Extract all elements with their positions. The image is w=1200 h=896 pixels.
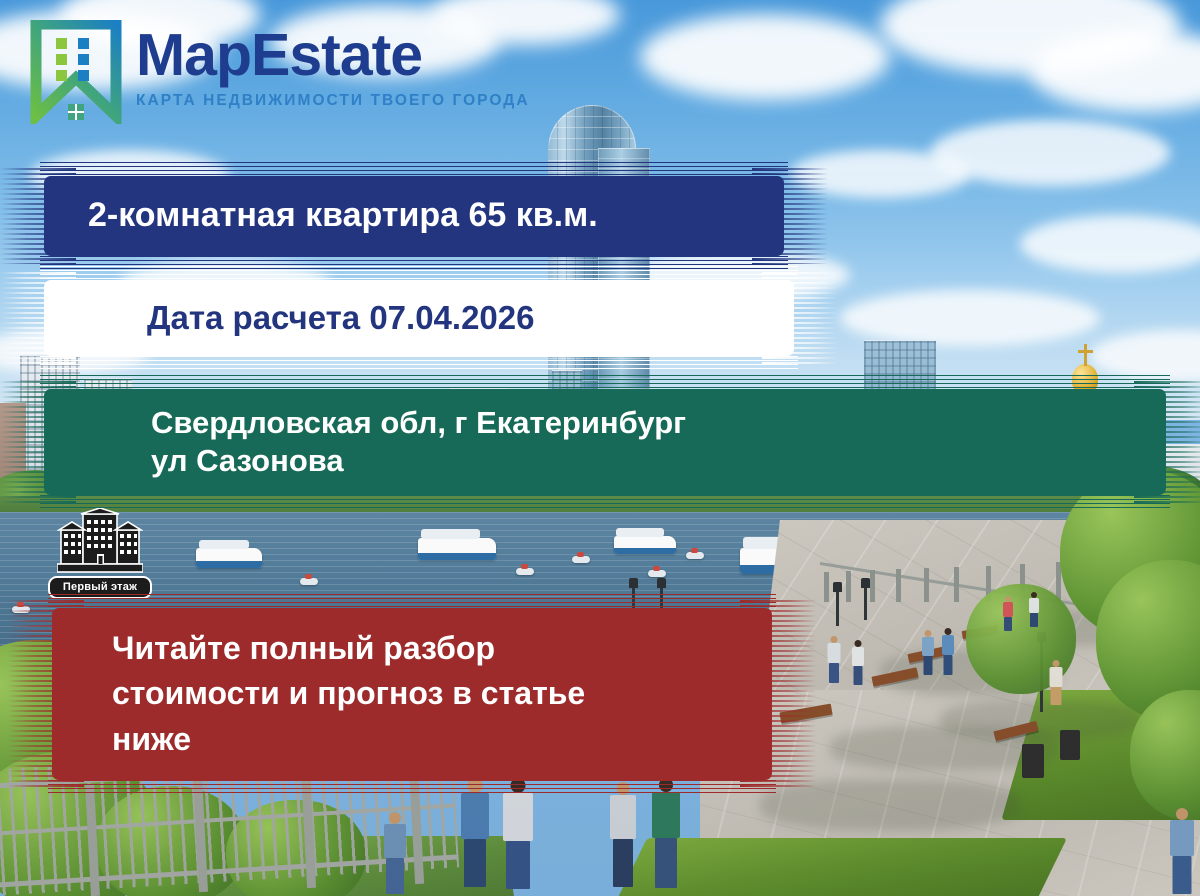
calculation-date-text: Дата расчета 07.04.2026 bbox=[34, 298, 534, 338]
pedal-boat bbox=[572, 556, 590, 563]
pleasure-boat bbox=[196, 548, 262, 568]
pedestrian bbox=[458, 778, 492, 896]
pedal-boat bbox=[686, 552, 704, 559]
address-text: Свердловская обл, г Екатеринбург ул Сазо… bbox=[34, 404, 686, 480]
building-icon bbox=[57, 508, 143, 574]
pedestrian bbox=[1168, 808, 1196, 896]
pedestrian bbox=[382, 812, 408, 896]
trash-bin bbox=[1022, 744, 1044, 778]
cta-line-2: стоимости и прогноз в статье bbox=[112, 671, 585, 716]
address-line-2: ул Сазонова bbox=[151, 442, 686, 480]
banner-apartment: 2-комнатная квартира 65 кв.м. bbox=[34, 168, 794, 264]
pedal-boat bbox=[648, 570, 666, 577]
brand-name: MapEstate bbox=[136, 26, 530, 85]
pleasure-boat bbox=[418, 538, 496, 560]
pedal-boat bbox=[300, 578, 318, 585]
cta-line-3: ниже bbox=[112, 717, 585, 762]
brand-name-part2: Estate bbox=[251, 22, 422, 88]
watermark-pervyi-etazh: Первый этаж bbox=[48, 508, 152, 599]
pedestrian bbox=[650, 778, 682, 894]
pedestrian bbox=[940, 628, 955, 674]
brand-logo[interactable]: MapEstate КАРТА НЕДВИЖИМОСТИ ТВОЕГО ГОРО… bbox=[28, 20, 530, 124]
pedestrian bbox=[850, 640, 865, 684]
pedestrian bbox=[920, 630, 935, 674]
trash-bin bbox=[1060, 730, 1080, 760]
brand-name-part1: Map bbox=[136, 22, 251, 88]
cloud bbox=[640, 14, 890, 100]
pedestrian bbox=[608, 782, 638, 894]
pedal-boat bbox=[516, 568, 534, 575]
pedestrian bbox=[1028, 592, 1040, 626]
street-lamp bbox=[836, 590, 839, 626]
brand-tagline: КАРТА НЕДВИЖИМОСТИ ТВОЕГО ГОРОДА bbox=[136, 92, 530, 110]
street-lamp bbox=[864, 586, 867, 620]
pedestrian bbox=[1002, 596, 1014, 630]
pedestrian-seated bbox=[1048, 660, 1064, 706]
pedestrian bbox=[500, 778, 536, 896]
cta-line-1: Читайте полный разбор bbox=[112, 626, 585, 671]
poster: MapEstate КАРТА НЕДВИЖИМОСТИ ТВОЕГО ГОРО… bbox=[0, 0, 1200, 896]
banner-address: Свердловская обл, г Екатеринбург ул Сазо… bbox=[34, 381, 1176, 503]
apartment-title: 2-комнатная квартира 65 кв.м. bbox=[34, 195, 598, 236]
pleasure-boat bbox=[614, 536, 676, 554]
pedestrian bbox=[826, 636, 842, 682]
banner-call-to-action[interactable]: Читайте полный разбор стоимости и прогно… bbox=[42, 600, 782, 788]
address-line-1: Свердловская обл, г Екатеринбург bbox=[151, 404, 686, 442]
cta-text: Читайте полный разбор стоимости и прогно… bbox=[42, 626, 585, 762]
bookmark-building-icon bbox=[28, 20, 124, 124]
cloud bbox=[930, 120, 1170, 186]
banner-calculation-date: Дата расчета 07.04.2026 bbox=[34, 272, 804, 364]
